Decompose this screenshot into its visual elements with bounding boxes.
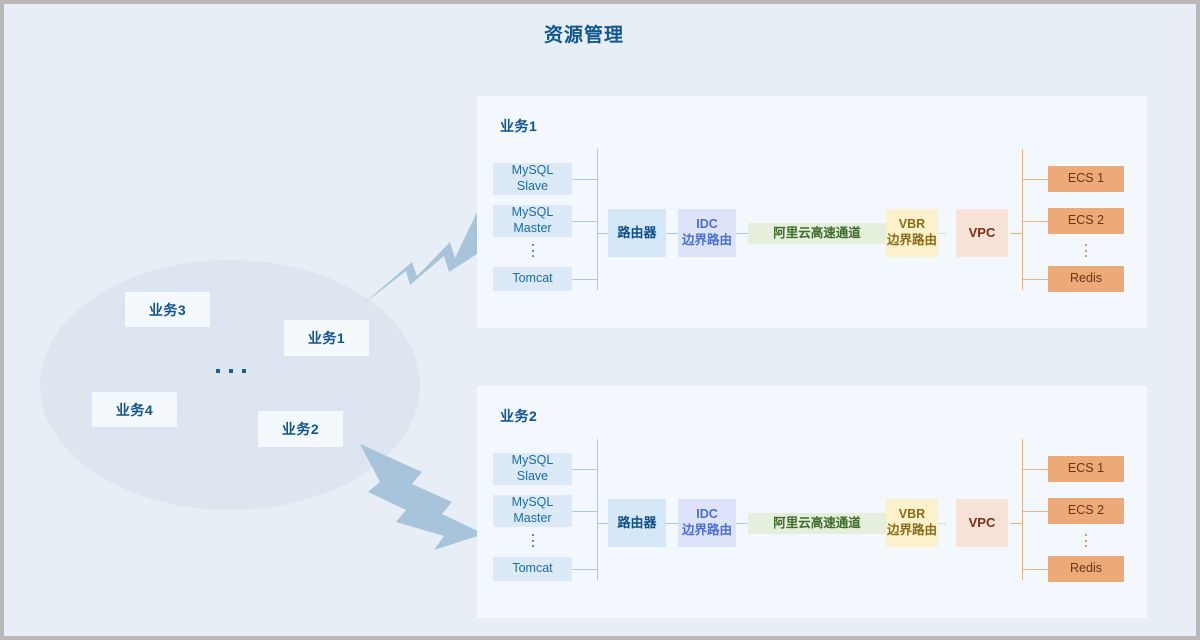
node-label: MySQLSlave	[512, 453, 554, 484]
node-tomcat-2[interactable]: Tomcat	[493, 557, 572, 581]
node-label: Tomcat	[512, 561, 552, 577]
node-ecs-1-panel2[interactable]: ECS 1	[1048, 456, 1124, 482]
node-vbr-edge-router-1[interactable]: VBR边界路由	[886, 209, 938, 257]
dot	[229, 369, 233, 373]
node-express-channel-2[interactable]: 阿里云高速通道	[748, 513, 886, 534]
node-vpc-1[interactable]: VPC	[956, 209, 1008, 257]
connector	[1022, 569, 1048, 570]
business-panel-2: 业务2	[477, 386, 1147, 618]
node-label: 路由器	[617, 225, 656, 241]
business-chip-1[interactable]: 业务1	[284, 320, 369, 356]
node-ecs-2-panel1[interactable]: ECS 2	[1048, 208, 1124, 234]
panel-title-2: 业务2	[500, 406, 537, 426]
node-mysql-master-2[interactable]: MySQLMaster	[493, 495, 572, 527]
node-label: IDC边界路由	[682, 217, 732, 248]
node-label: ECS 1	[1068, 461, 1104, 477]
cloud-more-dots-1	[1080, 244, 1092, 257]
node-label: ECS 2	[1068, 503, 1104, 519]
connector	[572, 569, 598, 570]
lightning-arrow-lower-icon	[356, 440, 491, 550]
node-idc-edge-router-1[interactable]: IDC边界路由	[678, 209, 736, 257]
page-title: 资源管理	[4, 20, 1164, 47]
connector	[572, 511, 598, 512]
node-label: MySQLMaster	[512, 205, 554, 236]
node-mysql-slave-1[interactable]: MySQLSlave	[493, 163, 572, 195]
connector	[597, 523, 608, 524]
node-tomcat-1[interactable]: Tomcat	[493, 267, 572, 291]
lightning-arrow-upper-icon	[354, 200, 484, 310]
connector	[572, 179, 598, 180]
connector	[666, 523, 678, 524]
node-label: MySQLMaster	[512, 495, 554, 526]
connector	[572, 469, 598, 470]
connector	[736, 523, 748, 524]
node-label: ECS 2	[1068, 213, 1104, 229]
dot	[216, 369, 220, 373]
connector	[1010, 523, 1022, 524]
connector	[1022, 279, 1048, 280]
node-label: Redis	[1070, 271, 1102, 287]
node-ecs-2-panel2[interactable]: ECS 2	[1048, 498, 1124, 524]
connector	[597, 233, 608, 234]
node-vpc-2[interactable]: VPC	[956, 499, 1008, 547]
node-label: VPC	[969, 225, 996, 241]
node-label: 阿里云高速通道	[773, 226, 861, 242]
business-chip-2[interactable]: 业务2	[258, 411, 343, 447]
connector	[1022, 469, 1048, 470]
node-label: VBR边界路由	[887, 217, 937, 248]
node-label: 路由器	[617, 515, 656, 531]
business-chip-3[interactable]: 业务3	[125, 292, 210, 327]
idc-trunk-line-2	[597, 439, 598, 580]
node-vbr-edge-router-2[interactable]: VBR边界路由	[886, 499, 938, 547]
connector	[1010, 233, 1022, 234]
diagram-canvas: 资源管理 业务3 业务1 业务4 业务2 业务1 MySQLSlave My	[4, 4, 1196, 636]
connector	[736, 233, 748, 234]
connector	[1022, 511, 1048, 512]
node-redis-panel1[interactable]: Redis	[1048, 266, 1124, 292]
cloud-trunk-line-1	[1022, 149, 1023, 290]
connector	[1022, 179, 1048, 180]
node-label: Redis	[1070, 561, 1102, 577]
connector	[572, 221, 598, 222]
business-chip-4[interactable]: 业务4	[92, 392, 177, 427]
node-label: IDC边界路由	[682, 507, 732, 538]
node-router-1[interactable]: 路由器	[608, 209, 666, 257]
cloud-ellipsis-dots	[216, 365, 246, 377]
node-mysql-slave-2[interactable]: MySQLSlave	[493, 453, 572, 485]
business-panel-1: 业务1	[477, 96, 1147, 328]
node-label: ECS 1	[1068, 171, 1104, 187]
node-redis-panel2[interactable]: Redis	[1048, 556, 1124, 582]
idc-more-dots-2	[527, 534, 539, 547]
node-label: Tomcat	[512, 271, 552, 287]
node-router-2[interactable]: 路由器	[608, 499, 666, 547]
node-label: VPC	[969, 515, 996, 531]
node-idc-edge-router-2[interactable]: IDC边界路由	[678, 499, 736, 547]
node-label: MySQLSlave	[512, 163, 554, 194]
idc-trunk-line-1	[597, 149, 598, 290]
node-express-channel-1[interactable]: 阿里云高速通道	[748, 223, 886, 244]
node-mysql-master-1[interactable]: MySQLMaster	[493, 205, 572, 237]
node-label: 阿里云高速通道	[773, 516, 861, 532]
idc-more-dots-1	[527, 244, 539, 257]
cloud-trunk-line-2	[1022, 439, 1023, 580]
connector	[666, 233, 678, 234]
node-label: VBR边界路由	[887, 507, 937, 538]
connector	[1022, 221, 1048, 222]
dot	[242, 369, 246, 373]
panel-title-1: 业务1	[500, 116, 537, 136]
cloud-more-dots-2	[1080, 534, 1092, 547]
node-ecs-1-panel1[interactable]: ECS 1	[1048, 166, 1124, 192]
connector	[572, 279, 598, 280]
